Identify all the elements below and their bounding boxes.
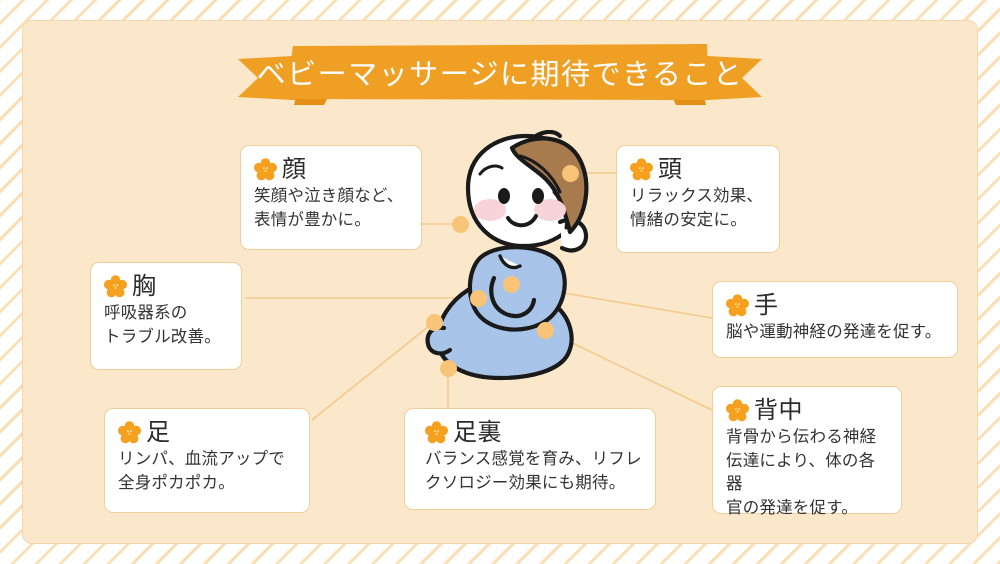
title-ribbon: ベビーマッサージに期待できること [236, 43, 764, 105]
card-head[interactable]: 頭 リラックス効果、 情緒の安定に。 [616, 145, 780, 253]
flower-icon [630, 158, 653, 181]
card-sole-title: 足裏 [453, 419, 502, 445]
infographic-root: ベビーマッサージに期待できること [0, 0, 1000, 564]
card-hand-title: 手 [754, 292, 779, 318]
flower-icon [726, 294, 749, 317]
dot-hand [503, 276, 520, 293]
card-hand-body: 脳や運動神経の発達を促す。 [726, 320, 944, 343]
flower-icon [254, 158, 277, 181]
card-back-title: 背中 [754, 397, 803, 423]
card-back-header: 背中 [726, 397, 888, 423]
card-leg-body: リンパ、血流アップで 全身ポカポカ。 [118, 447, 296, 494]
card-face-header: 顔 [254, 156, 408, 182]
card-face[interactable]: 顔 笑顔や泣き顔など、 表情が豊かに。 [240, 145, 422, 250]
dot-leg [426, 314, 443, 331]
flower-icon [425, 421, 448, 444]
baby-eye-left [498, 188, 510, 204]
card-head-title: 頭 [658, 156, 683, 182]
page-title: ベビーマッサージに期待できること [236, 43, 764, 101]
card-face-title: 顔 [282, 156, 307, 182]
baby-eye-right [532, 188, 544, 204]
dot-head [562, 165, 579, 182]
dot-face [452, 216, 469, 233]
card-back[interactable]: 背中 背骨から伝わる神経 伝達により、体の各器 官の発達を促す。 [712, 386, 902, 514]
card-sole-header: 足裏 [425, 419, 642, 445]
card-sole[interactable]: 足裏 バランス感覚を育み、リフレ クソロジー効果にも期待。 [404, 408, 656, 510]
dot-chest [470, 290, 487, 307]
card-face-body: 笑顔や泣き顔など、 表情が豊かに。 [254, 184, 408, 231]
card-back-body: 背骨から伝わる神経 伝達により、体の各器 官の発達を促す。 [726, 425, 888, 519]
card-chest-title: 胸 [132, 273, 157, 299]
flower-icon [118, 421, 141, 444]
card-chest[interactable]: 胸 呼吸器系の トラブル改善。 [90, 262, 242, 370]
baby-illustration [408, 130, 628, 400]
card-hand-header: 手 [726, 292, 944, 318]
card-head-header: 頭 [630, 156, 766, 182]
card-chest-header: 胸 [104, 273, 228, 299]
card-leg-header: 足 [118, 419, 296, 445]
card-head-body: リラックス効果、 情緒の安定に。 [630, 184, 766, 231]
flower-icon [726, 399, 749, 422]
card-leg-title: 足 [146, 419, 171, 445]
card-leg[interactable]: 足 リンパ、血流アップで 全身ポカポカ。 [104, 408, 310, 513]
card-chest-body: 呼吸器系の トラブル改善。 [104, 301, 228, 348]
card-sole-body: バランス感覚を育み、リフレ クソロジー効果にも期待。 [425, 447, 642, 494]
dot-sole [440, 360, 457, 377]
card-hand[interactable]: 手 脳や運動神経の発達を促す。 [712, 281, 958, 358]
dot-back [537, 322, 554, 339]
flower-icon [104, 275, 127, 298]
